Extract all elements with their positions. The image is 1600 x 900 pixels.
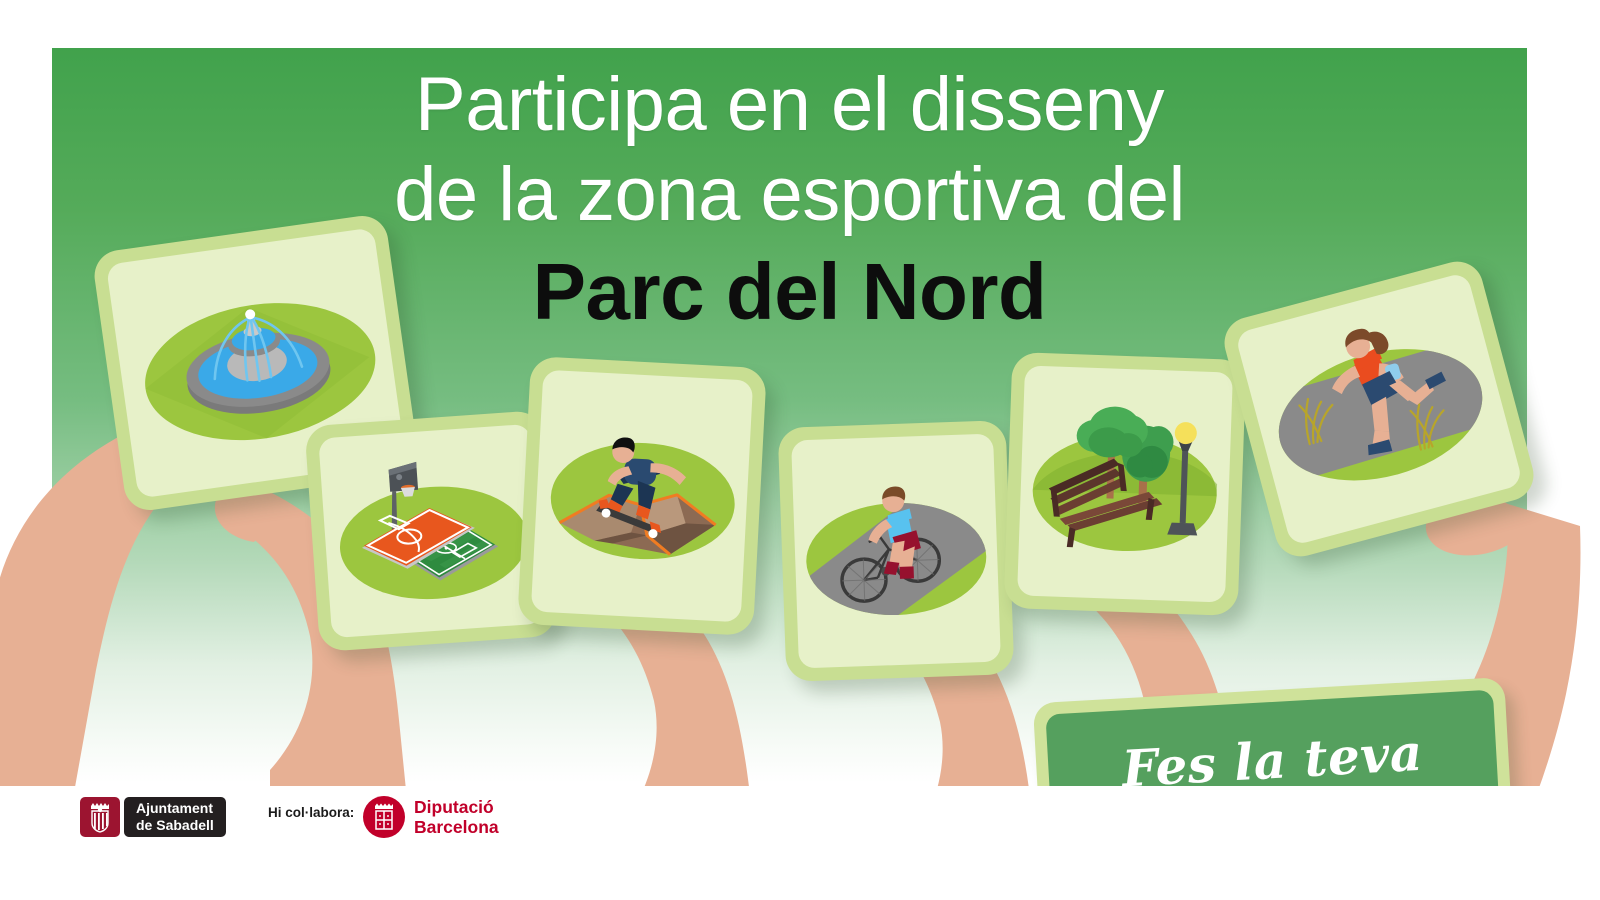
ajuntament-line-1: Ajuntament xyxy=(136,800,214,817)
logo-diputacio-barcelona[interactable]: Diputació Barcelona xyxy=(363,796,499,838)
collaborates-label: Hi col·labora: xyxy=(268,805,354,820)
sports-court-icon xyxy=(318,424,543,638)
runner-icon xyxy=(1235,272,1524,547)
headline-line-2: de la zona esportiva del xyxy=(394,152,1185,237)
skateboarder-icon xyxy=(531,370,753,623)
card-bench-face xyxy=(1017,365,1233,602)
diputacio-line-2: Barcelona xyxy=(414,817,499,837)
logo-ajuntament-sabadell[interactable]: Ajuntament de Sabadell xyxy=(80,797,226,837)
sabadell-shield-icon xyxy=(80,797,120,837)
card-skatepark[interactable] xyxy=(517,356,767,636)
card-sports-court-face xyxy=(318,424,543,638)
diputacio-shield-icon xyxy=(363,796,405,838)
cyclist-icon xyxy=(791,434,1001,669)
diputacio-line-1: Diputació xyxy=(414,797,499,817)
ajuntament-line-2: de Sabadell xyxy=(136,817,214,834)
footer-logos: Ajuntament de Sabadell Hi col·labora: Di… xyxy=(0,786,1600,900)
park-bench-icon xyxy=(1017,365,1233,602)
ajuntament-name: Ajuntament de Sabadell xyxy=(124,797,226,837)
diputacio-name: Diputació Barcelona xyxy=(414,797,499,837)
card-skatepark-face xyxy=(531,370,753,623)
card-bike-path[interactable] xyxy=(778,420,1015,682)
card-bench[interactable] xyxy=(1004,352,1247,616)
card-running-face xyxy=(1235,272,1524,547)
card-sports-court[interactable] xyxy=(304,410,557,652)
poster-canvas: Participa en el disseny de la zona espor… xyxy=(0,0,1600,900)
card-bike-path-face xyxy=(791,434,1001,669)
headline-line-1: Participa en el disseny xyxy=(415,62,1164,147)
